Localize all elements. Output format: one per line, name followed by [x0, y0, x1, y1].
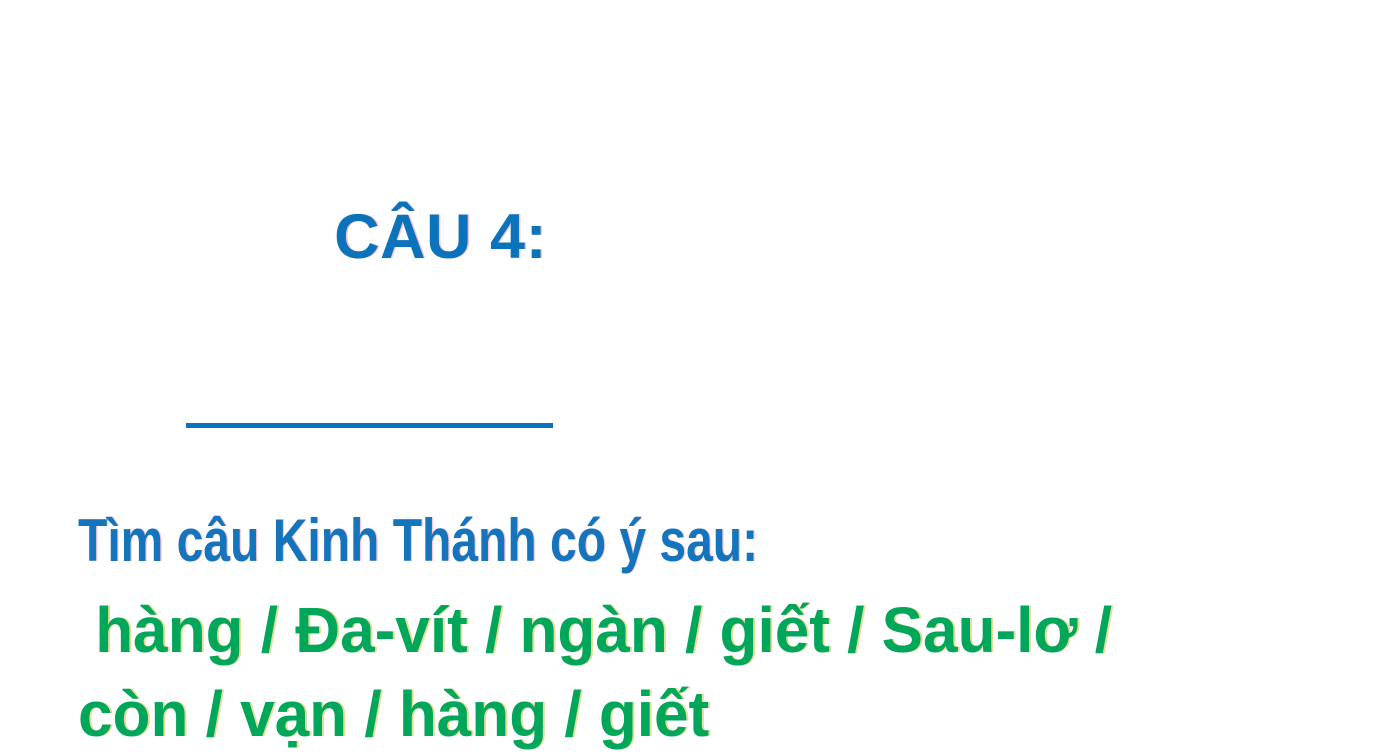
question-text-block: CÂU 4: Tìm câu Kinh Thánh có ý sau: hàng…	[78, 62, 1378, 756]
heading-underline-rule	[186, 423, 553, 428]
question-number-heading: CÂU 4:	[78, 62, 1378, 482]
scrambled-words-line-1: hàng / Đa-vít / ngàn / giết / Sau-lơ /	[78, 588, 1339, 672]
question-number-label: CÂU 4:	[334, 202, 547, 272]
question-number-heading-inner: CÂU 4:	[186, 132, 547, 412]
scrambled-words-line-2: còn / vạn / hàng / giết	[78, 672, 1339, 756]
instruction-line: Tìm câu Kinh Thánh có ý sau:	[78, 508, 1118, 574]
slide-canvas: CÂU 4: Tìm câu Kinh Thánh có ý sau: hàng…	[0, 0, 1400, 555]
